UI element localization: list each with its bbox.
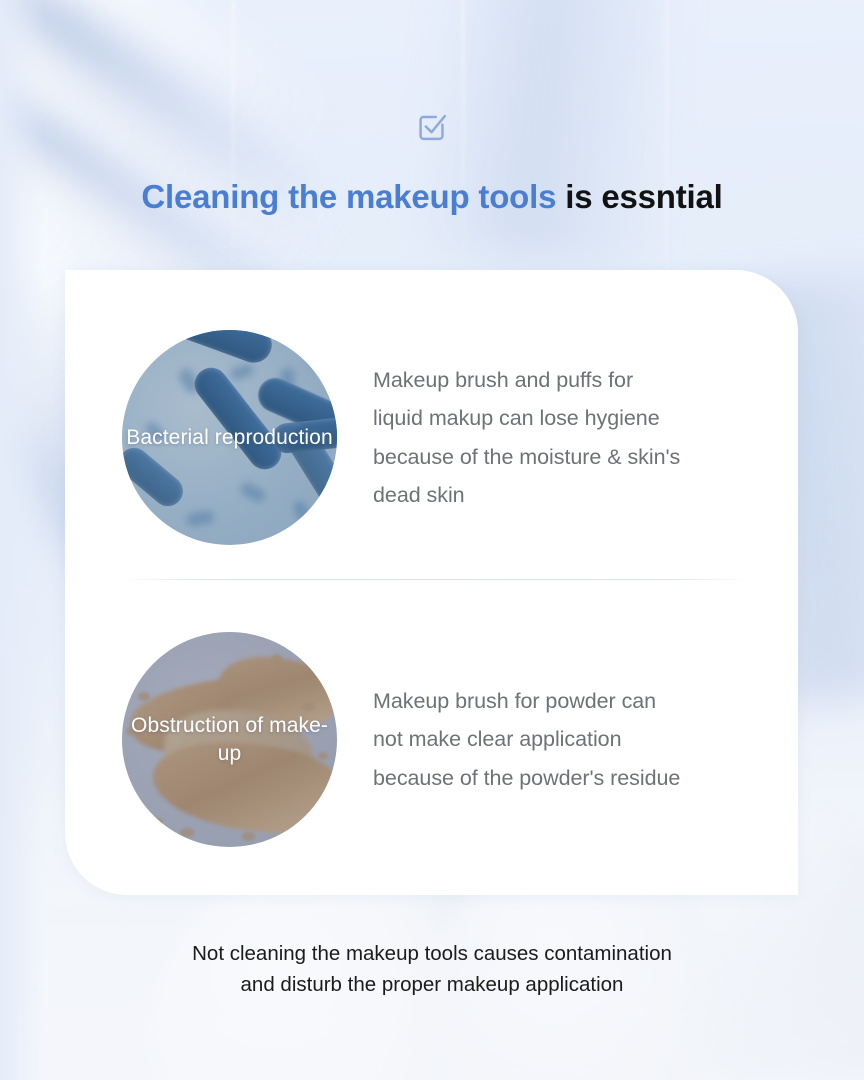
circle-caption: Obstruction of make-up [122,632,337,847]
bacteria-microscope-photo: Bacterial reproduction [122,330,337,545]
page-title-rest: is essntial [556,178,722,215]
checkbox-check-icon [413,108,451,146]
divider [122,579,747,580]
page-title-highlight: Cleaning the makeup tools [141,178,556,215]
list-item: Obstruction of make-up Makeup brush for … [122,632,680,847]
list-item-description: Makeup brush for powder can not make cle… [373,682,680,797]
header: Cleaning the makeup tools is essntial [0,108,864,213]
footer-caption: Not cleaning the makeup tools causes con… [0,938,864,1000]
spilled-powder-photo: Obstruction of make-up [122,632,337,847]
content-card: Bacterial reproduction Makeup brush and … [65,270,798,895]
list-item: Bacterial reproduction Makeup brush and … [122,330,680,545]
infographic-page: Cleaning the makeup tools is essntial Ba… [0,0,864,1080]
page-title: Cleaning the makeup tools is essntial [0,180,864,213]
list-item-description: Makeup brush and puffs for liquid makup … [373,361,680,514]
circle-caption: Bacterial reproduction [122,330,337,545]
